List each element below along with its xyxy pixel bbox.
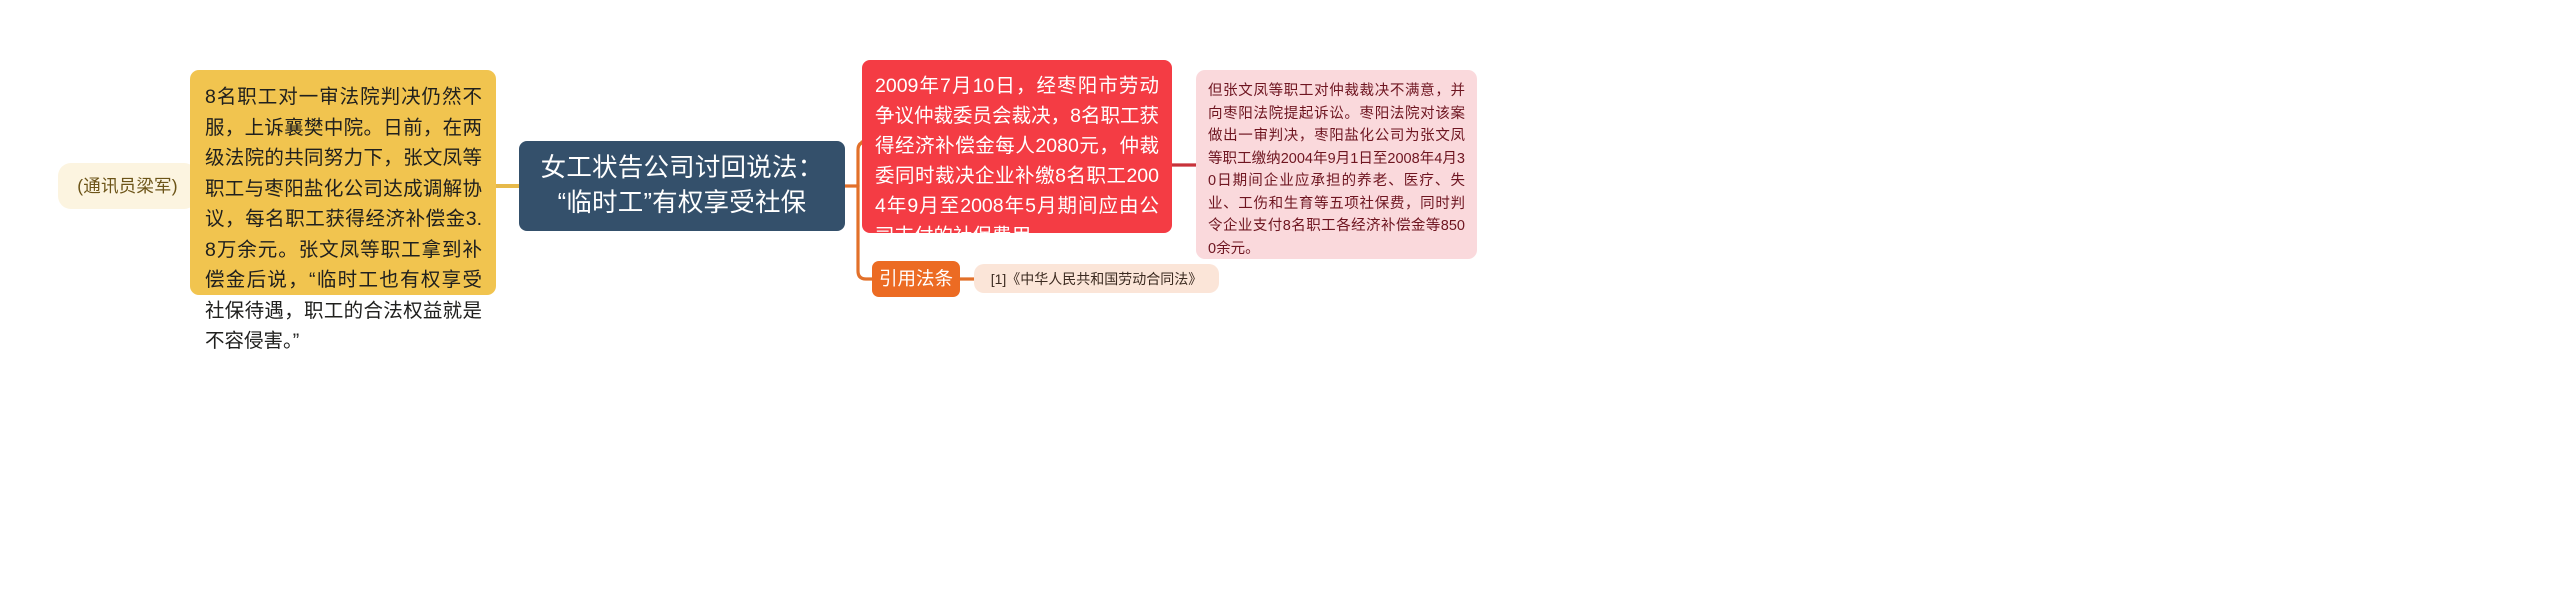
source-reporter-label: (通讯员梁军) [68,175,187,197]
center-topic-title: 女工状告公司讨回说法： “临时工”有权享受社保 [531,151,833,221]
source-reporter-node[interactable]: (通讯员梁军) [58,163,197,209]
leaf-labor-contract-law-label: [1]《中华人民共和国劳动合同法》 [984,269,1209,289]
branch-cited-law-label: 引用法条 [878,267,954,291]
branch-appeal-settlement-node[interactable]: 8名职工对一审法院判决仍然不服，上诉襄樊中院。日前，在两级法院的共同努力下，张文… [190,70,496,295]
leaf-labor-contract-law-node[interactable]: [1]《中华人民共和国劳动合同法》 [974,264,1219,293]
center-topic-node[interactable]: 女工状告公司讨回说法： “临时工”有权享受社保 [519,141,845,231]
branch-cited-law-node[interactable]: 引用法条 [872,261,960,297]
branch-appeal-settlement-text: 8名职工对一审法院判决仍然不服，上诉襄樊中院。日前，在两级法院的共同努力下，张文… [205,82,482,357]
leaf-first-instance-judgment-node[interactable]: 但张文凤等职工对仲裁裁决不满意，并向枣阳法院提起诉讼。枣阳法院对该案做出一审判决… [1196,70,1477,259]
branch-arbitration-award-node[interactable]: 2009年7月10日，经枣阳市劳动争议仲裁委员会裁决，8名职工获得经济补偿金每人… [862,60,1172,233]
leaf-first-instance-judgment-text: 但张文凤等职工对仲裁裁决不满意，并向枣阳法院提起诉讼。枣阳法院对该案做出一审判决… [1208,80,1465,260]
branch-arbitration-award-text: 2009年7月10日，经枣阳市劳动争议仲裁委员会裁决，8名职工获得经济补偿金每人… [875,71,1159,251]
mindmap-canvas: (通讯员梁军) 8名职工对一审法院判决仍然不服，上诉襄樊中院。日前，在两级法院的… [0,0,2560,599]
